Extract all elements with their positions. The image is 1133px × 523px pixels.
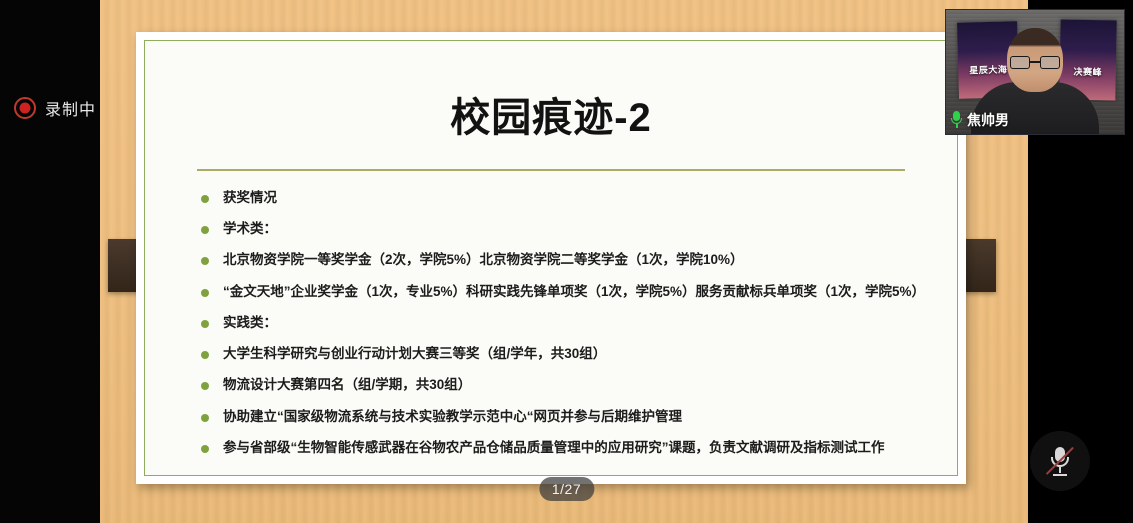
- list-item-text: 获奖情况: [223, 190, 277, 205]
- list-item: 学术类：: [201, 220, 935, 238]
- microphone-on-icon: [950, 111, 963, 129]
- list-item-text: 北京物资学院一等奖学金（2次，学院5%）北京物资学院二等奖学金（1次，学院10%…: [223, 252, 744, 267]
- glasses-bridge: [1030, 61, 1040, 63]
- list-item: 获奖情况: [201, 189, 935, 207]
- bullet-list: 获奖情况 学术类： 北京物资学院一等奖学金（2次，学院5%）北京物资学院二等奖学…: [201, 189, 935, 457]
- poster-right-text: 决赛峰: [1060, 65, 1116, 79]
- list-item-text: 学术类：: [223, 221, 277, 236]
- participant-name: 焦帅男: [967, 110, 1009, 130]
- bullet-dot-icon: [201, 195, 209, 203]
- bullet-dot-icon: [201, 351, 209, 359]
- lens-right: [1040, 56, 1060, 69]
- list-item: 实践类：: [201, 314, 935, 332]
- screen-share-viewer: 录制中 校园痕迹-2 获奖情况 学术类：: [0, 0, 1133, 523]
- list-item: 参与省部级“生物智能传感武器在谷物农产品仓储品质量管理中的应用研究”课题，负责文…: [201, 439, 935, 457]
- list-item-text: 协助建立“国家级物流系统与技术实验教学示范中心“网页并参与后期维护管理: [223, 409, 682, 424]
- list-item: 大学生科学研究与创业行动计划大赛三等奖（组/学年，共30组）: [201, 345, 935, 363]
- left-gutter: [0, 0, 100, 523]
- bullet-dot-icon: [201, 320, 209, 328]
- bullet-dot-icon: [201, 414, 209, 422]
- bullet-dot-icon: [201, 445, 209, 453]
- slide-title: 校园痕迹-2: [167, 93, 935, 143]
- participant-video-tile[interactable]: 星辰大海 决赛峰 焦帅男: [945, 9, 1125, 135]
- glasses: [1010, 56, 1060, 69]
- recording-indicator: 录制中: [14, 96, 96, 120]
- list-item-text: 参与省部级“生物智能传感武器在谷物农产品仓储品质量管理中的应用研究”课题，负责文…: [223, 440, 885, 455]
- list-item: 协助建立“国家级物流系统与技术实验教学示范中心“网页并参与后期维护管理: [201, 408, 935, 426]
- list-item-text: 大学生科学研究与创业行动计划大赛三等奖（组/学年，共30组）: [223, 346, 606, 361]
- slide[interactable]: 校园痕迹-2 获奖情况 学术类： 北京物资学院一等奖学金（2次，学院5%）北京物…: [136, 32, 966, 484]
- bullet-dot-icon: [201, 382, 209, 390]
- bullet-dot-icon: [201, 226, 209, 234]
- bullet-dot-icon: [201, 257, 209, 265]
- list-item-text: 物流设计大赛第四名（组/学期，共30组）: [223, 377, 471, 392]
- list-item: 北京物资学院一等奖学金（2次，学院5%）北京物资学院二等奖学金（1次，学院10%…: [201, 251, 935, 269]
- slide-inner-frame: 校园痕迹-2 获奖情况 学术类： 北京物资学院一等奖学金（2次，学院5%）北京物…: [144, 40, 958, 476]
- list-item: “金文天地”企业奖学金（1次，专业5%）科研实践先锋单项奖（1次，学院5%）服务…: [201, 283, 935, 301]
- list-item-text: “金文天地”企业奖学金（1次，专业5%）科研实践先锋单项奖（1次，学院5%）服务…: [223, 284, 925, 299]
- list-item: 物流设计大赛第四名（组/学期，共30组）: [201, 376, 935, 394]
- page-indicator: 1/27: [539, 477, 594, 501]
- mute-button[interactable]: [1030, 431, 1090, 491]
- list-item-text: 实践类：: [223, 315, 277, 330]
- record-dot-icon: [14, 97, 36, 119]
- participant-name-bar: 焦帅男: [950, 110, 1009, 130]
- recording-label: 录制中: [45, 96, 96, 120]
- title-divider: [197, 169, 905, 171]
- bullet-dot-icon: [201, 289, 209, 297]
- lens-left: [1010, 56, 1030, 69]
